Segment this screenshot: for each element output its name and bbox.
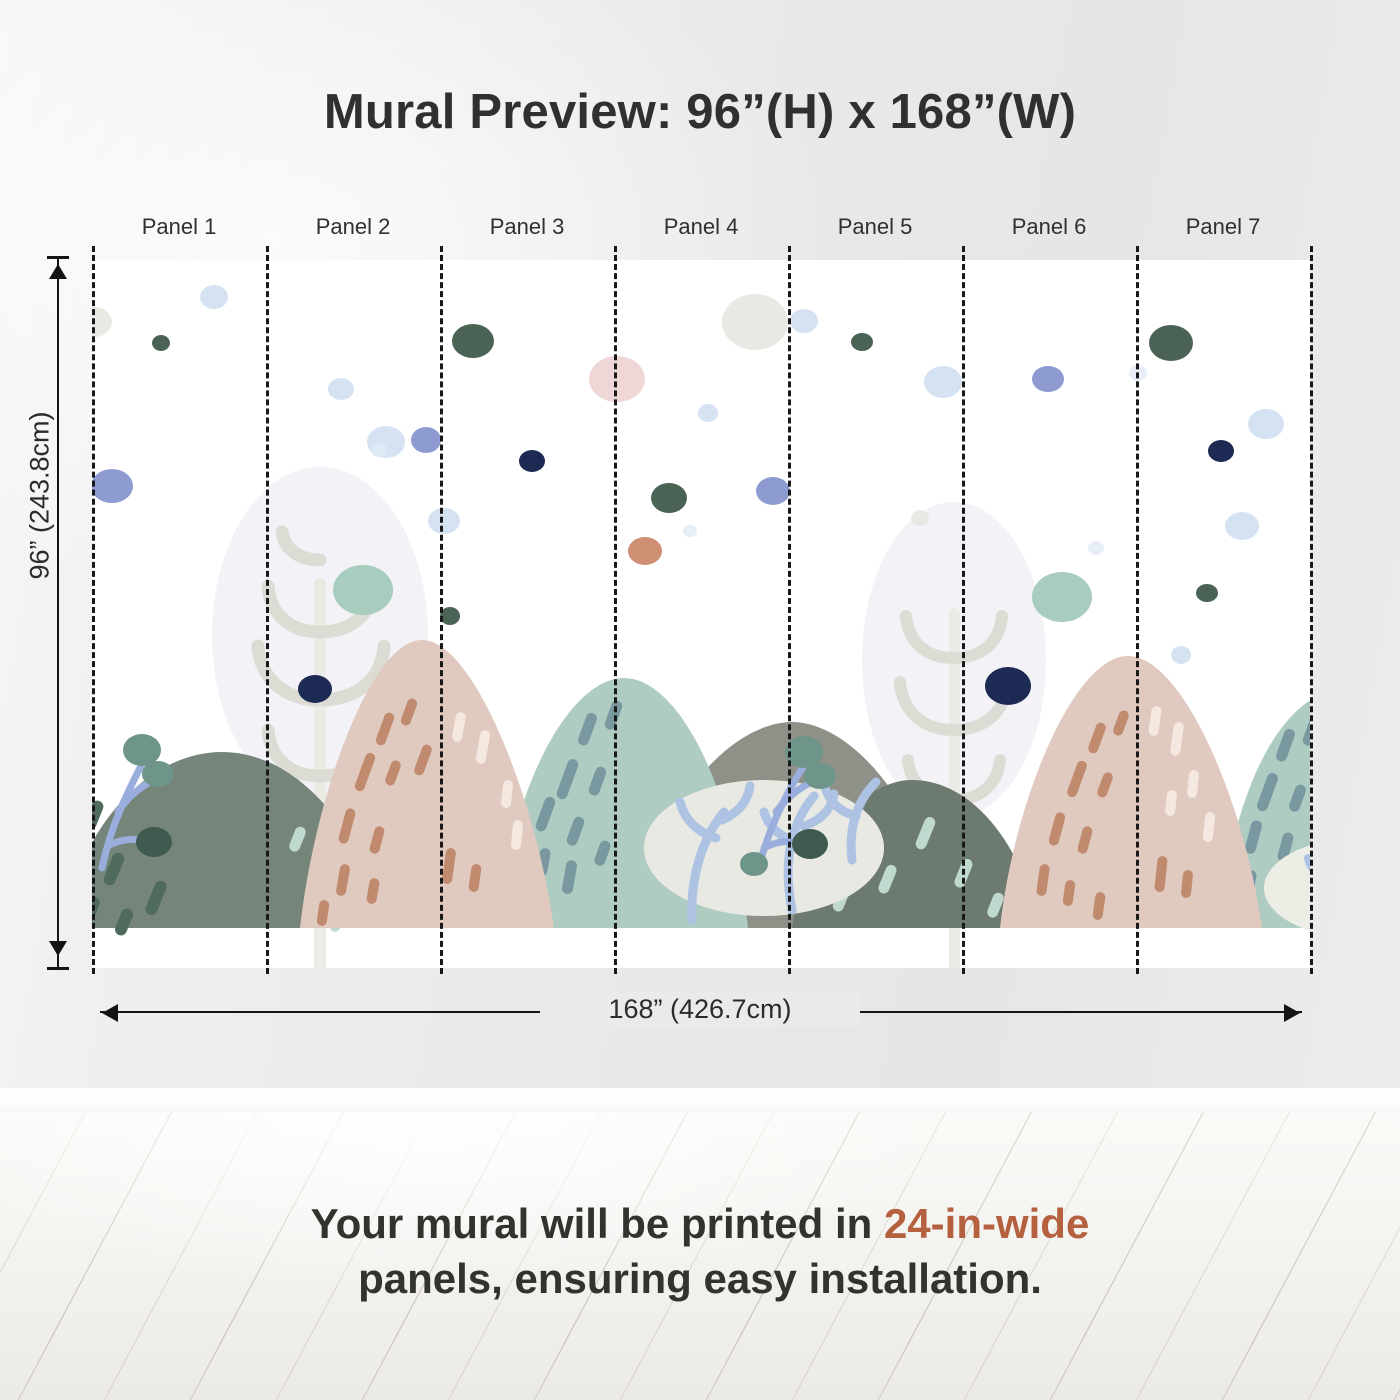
panel-label-6: Panel 6 bbox=[962, 214, 1136, 240]
height-dimension-line bbox=[57, 258, 59, 970]
confetti-dot bbox=[1208, 440, 1234, 462]
panel-divider-0 bbox=[92, 246, 95, 974]
panel-divider-5 bbox=[962, 246, 965, 974]
width-dimension-label: 168” (426.7cm) bbox=[540, 992, 860, 1027]
confetti-dot bbox=[790, 309, 818, 333]
confetti-dot bbox=[651, 483, 687, 513]
confetti-dot bbox=[924, 366, 962, 398]
panel-divider-1 bbox=[266, 246, 269, 974]
confetti-dot bbox=[440, 607, 460, 625]
confetti-dot bbox=[1225, 512, 1259, 540]
panel-label-2: Panel 2 bbox=[266, 214, 440, 240]
panel-divider-4 bbox=[788, 246, 791, 974]
confetti-dot bbox=[851, 333, 873, 351]
footer-caption: Your mural will be printed in 24-in-wide… bbox=[0, 1196, 1400, 1307]
confetti-dot bbox=[1196, 584, 1218, 602]
panel-label-1: Panel 1 bbox=[92, 214, 266, 240]
confetti-dot bbox=[911, 510, 929, 526]
caption-highlight: 24-in-wide bbox=[884, 1200, 1089, 1247]
caption-line1-before: Your mural will be printed in bbox=[311, 1200, 884, 1247]
width-arrow-left-icon bbox=[102, 1004, 118, 1022]
confetti-dot bbox=[519, 450, 545, 472]
confetti-dot bbox=[411, 427, 441, 453]
height-arrow-down-icon bbox=[49, 941, 67, 956]
confetti-dot bbox=[200, 285, 228, 309]
panel-label-3: Panel 3 bbox=[440, 214, 614, 240]
panel-label-5: Panel 5 bbox=[788, 214, 962, 240]
confetti-dot bbox=[683, 525, 697, 537]
confetti-dot bbox=[985, 667, 1031, 705]
mural-preview-screenshot: Mural Preview: 96”(H) x 168”(W) bbox=[0, 0, 1400, 1400]
confetti-dot bbox=[698, 404, 718, 422]
confetti-dot bbox=[628, 537, 662, 565]
confetti-dot bbox=[722, 294, 788, 350]
mural-illustration bbox=[92, 260, 1310, 968]
confetti-dot bbox=[1032, 572, 1092, 622]
width-arrow-right-icon bbox=[1284, 1004, 1300, 1022]
confetti-dot bbox=[333, 565, 393, 615]
confetti-dot bbox=[1171, 646, 1191, 664]
confetti-dot bbox=[298, 675, 332, 703]
panel-label-7: Panel 7 bbox=[1136, 214, 1310, 240]
panel-divider-6 bbox=[1136, 246, 1139, 974]
confetti-dot bbox=[589, 356, 645, 402]
confetti-dot bbox=[328, 378, 354, 400]
height-dimension-label: 96” (243.8cm) bbox=[25, 396, 56, 596]
confetti-dot bbox=[1149, 325, 1193, 361]
height-arrow-up-icon bbox=[49, 264, 67, 279]
confetti-dot bbox=[371, 443, 387, 457]
confetti-dot bbox=[1032, 366, 1064, 392]
baseboard bbox=[0, 1088, 1400, 1114]
panel-divider-2 bbox=[440, 246, 443, 974]
confetti-dot bbox=[1248, 409, 1284, 439]
confetti-dot bbox=[452, 324, 494, 358]
page-title: Mural Preview: 96”(H) x 168”(W) bbox=[0, 84, 1400, 140]
confetti-dot bbox=[756, 477, 790, 505]
confetti-dot bbox=[1088, 541, 1104, 555]
confetti-dot bbox=[152, 335, 170, 351]
caption-line2: panels, ensuring easy installation. bbox=[358, 1255, 1042, 1302]
panel-divider-3 bbox=[614, 246, 617, 974]
confetti-dot bbox=[92, 469, 133, 503]
panel-divider-7 bbox=[1310, 246, 1313, 974]
mural-artwork-canvas[interactable] bbox=[92, 260, 1310, 968]
confetti-dot bbox=[428, 508, 460, 534]
panel-label-4: Panel 4 bbox=[614, 214, 788, 240]
